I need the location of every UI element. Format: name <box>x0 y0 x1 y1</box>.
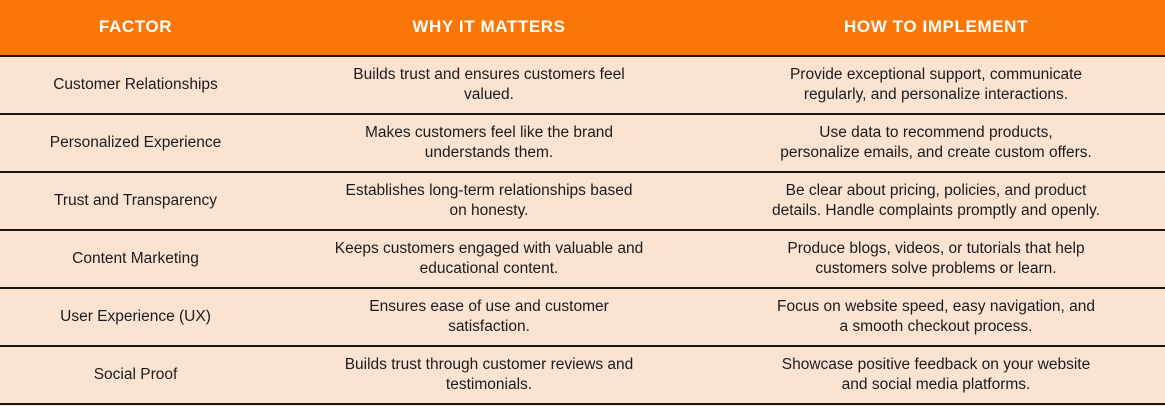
cell-factor: Personalized Experience <box>0 114 271 172</box>
cell-line: on honesty. <box>281 201 697 221</box>
table-row: Customer Relationships Builds trust and … <box>0 56 1165 114</box>
table-row: Personalized Experience Makes customers … <box>0 114 1165 172</box>
cell-factor: Customer Relationships <box>0 56 271 114</box>
table-body: Customer Relationships Builds trust and … <box>0 56 1165 404</box>
cell-why-it-matters: Keeps customers engaged with valuable an… <box>271 230 707 288</box>
cell-how-to-implement: Be clear about pricing, policies, and pr… <box>707 172 1165 230</box>
cell-why-it-matters: Builds trust and ensures customers feel … <box>271 56 707 114</box>
column-header-why-it-matters: WHY IT MATTERS <box>271 0 707 56</box>
cell-line: Builds trust and ensures customers feel <box>281 65 697 85</box>
table-row: Trust and Transparency Establishes long-… <box>0 172 1165 230</box>
marketing-factors-table-container: FACTOR WHY IT MATTERS HOW TO IMPLEMENT C… <box>0 0 1165 406</box>
cell-how-to-implement: Produce blogs, videos, or tutorials that… <box>707 230 1165 288</box>
table-row: Social Proof Builds trust through custom… <box>0 346 1165 404</box>
table-row: User Experience (UX) Ensures ease of use… <box>0 288 1165 346</box>
cell-line: Makes customers feel like the brand <box>281 123 697 143</box>
cell-line: Be clear about pricing, policies, and pr… <box>717 181 1155 201</box>
cell-factor: Social Proof <box>0 346 271 404</box>
cell-why-it-matters: Ensures ease of use and customer satisfa… <box>271 288 707 346</box>
cell-line: details. Handle complaints promptly and … <box>717 201 1155 221</box>
cell-line: Showcase positive feedback on your websi… <box>717 355 1155 375</box>
table-row: Content Marketing Keeps customers engage… <box>0 230 1165 288</box>
cell-line: a smooth checkout process. <box>717 317 1155 337</box>
cell-line: Keeps customers engaged with valuable an… <box>281 239 697 259</box>
column-header-how-to-implement: HOW TO IMPLEMENT <box>707 0 1165 56</box>
cell-line: educational content. <box>281 259 697 279</box>
table-header: FACTOR WHY IT MATTERS HOW TO IMPLEMENT <box>0 0 1165 56</box>
cell-line: and social media platforms. <box>717 375 1155 395</box>
cell-why-it-matters: Establishes long-term relationships base… <box>271 172 707 230</box>
cell-line: Ensures ease of use and customer <box>281 297 697 317</box>
cell-line: Focus on website speed, easy navigation,… <box>717 297 1155 317</box>
cell-factor: Content Marketing <box>0 230 271 288</box>
cell-line: testimonials. <box>281 375 697 395</box>
header-row: FACTOR WHY IT MATTERS HOW TO IMPLEMENT <box>0 0 1165 56</box>
cell-line: Establishes long-term relationships base… <box>281 181 697 201</box>
cell-line: satisfaction. <box>281 317 697 337</box>
cell-line: valued. <box>281 85 697 105</box>
cell-line: Provide exceptional support, communicate <box>717 65 1155 85</box>
cell-how-to-implement: Focus on website speed, easy navigation,… <box>707 288 1165 346</box>
cell-line: understands them. <box>281 143 697 163</box>
cell-line: Produce blogs, videos, or tutorials that… <box>717 239 1155 259</box>
cell-why-it-matters: Makes customers feel like the brand unde… <box>271 114 707 172</box>
cell-why-it-matters: Builds trust through customer reviews an… <box>271 346 707 404</box>
cell-how-to-implement: Provide exceptional support, communicate… <box>707 56 1165 114</box>
cell-factor: User Experience (UX) <box>0 288 271 346</box>
cell-how-to-implement: Showcase positive feedback on your websi… <box>707 346 1165 404</box>
cell-line: Use data to recommend products, <box>717 123 1155 143</box>
cell-line: personalize emails, and create custom of… <box>717 143 1155 163</box>
cell-factor: Trust and Transparency <box>0 172 271 230</box>
cell-line: regularly, and personalize interactions. <box>717 85 1155 105</box>
column-header-factor: FACTOR <box>0 0 271 56</box>
marketing-factors-table: FACTOR WHY IT MATTERS HOW TO IMPLEMENT C… <box>0 0 1165 405</box>
cell-how-to-implement: Use data to recommend products, personal… <box>707 114 1165 172</box>
cell-line: Builds trust through customer reviews an… <box>281 355 697 375</box>
cell-line: customers solve problems or learn. <box>717 259 1155 279</box>
